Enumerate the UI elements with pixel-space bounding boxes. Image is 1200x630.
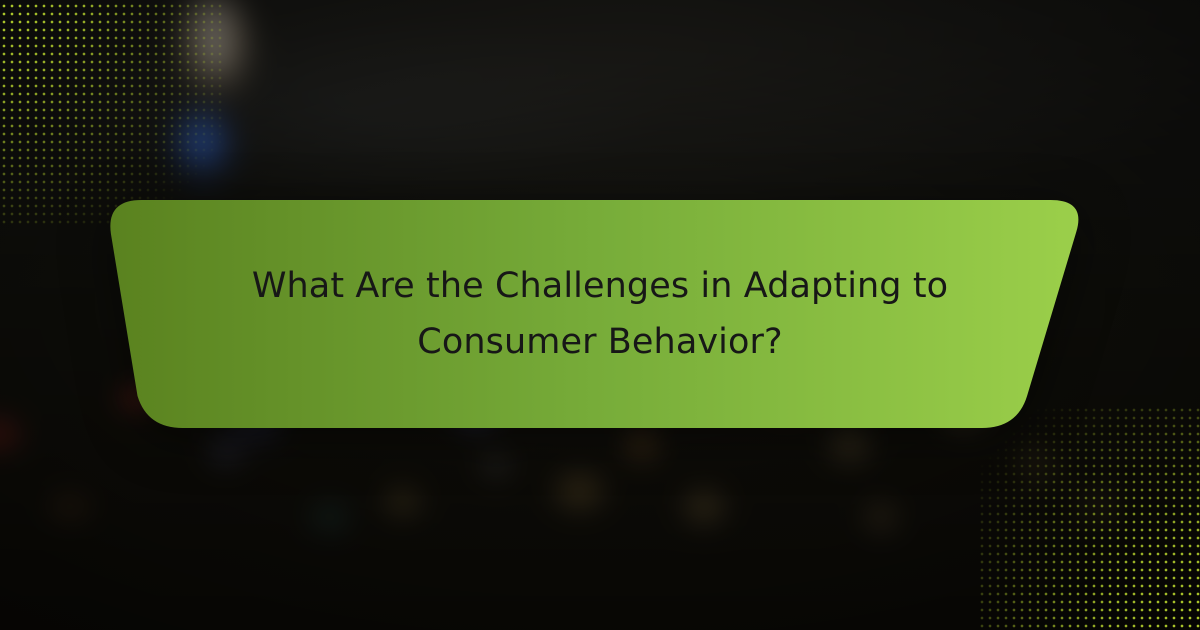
headline-card: What Are the Challenges in Adapting to C… bbox=[100, 200, 1100, 428]
screenshot-canvas: What Are the Challenges in Adapting to C… bbox=[0, 0, 1200, 630]
headline-line-1: What Are the Challenges in Adapting to bbox=[252, 258, 948, 314]
headline-line-2: Consumer Behavior? bbox=[417, 314, 782, 370]
headline-text-block: What Are the Challenges in Adapting to C… bbox=[100, 200, 1100, 428]
